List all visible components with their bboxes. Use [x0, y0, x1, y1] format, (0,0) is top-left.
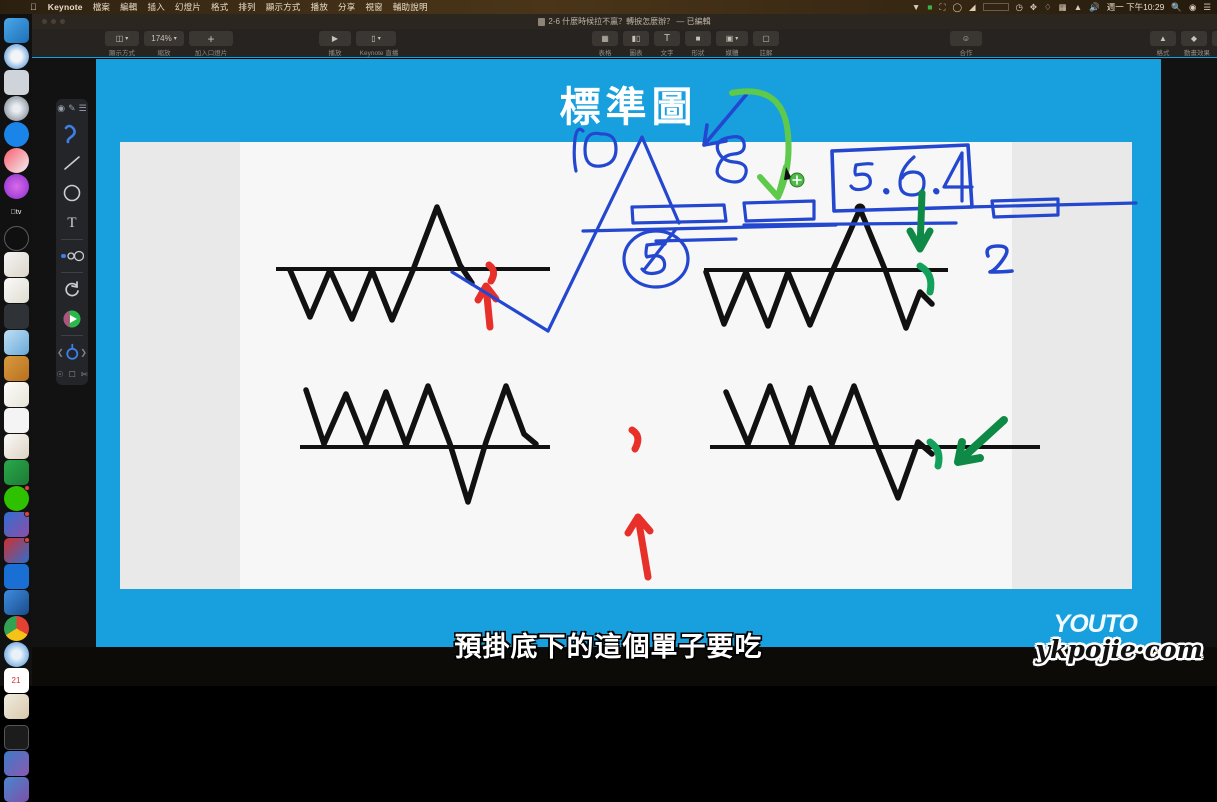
toolbar-group-play: ▶ ▯ ▾	[319, 31, 396, 46]
plus-icon: +	[207, 32, 214, 46]
rotate-arrows-icon	[62, 279, 82, 299]
bar-chart-icon: ▮▯	[632, 34, 641, 43]
table-label: 表格	[592, 47, 618, 57]
format-brush-icon: ▲	[1159, 34, 1167, 43]
site-watermark: ykpojie·com	[1035, 635, 1203, 664]
calendar-icon[interactable]: ▦	[1059, 2, 1067, 13]
chart-panel-top-right	[704, 204, 948, 329]
shape-icon: ■	[696, 34, 701, 43]
next-arrow[interactable]: ❯	[80, 348, 87, 357]
shape-label: 形狀	[685, 47, 711, 57]
menu-item-view[interactable]: 顯示方式	[266, 1, 301, 13]
eject-icon[interactable]: ▲	[1074, 2, 1082, 12]
record-dot-icon[interactable]: ◉	[57, 103, 65, 114]
peak-dot-top-right	[855, 204, 866, 215]
play-tool[interactable]	[57, 304, 87, 334]
timemachine-icon[interactable]: ◷	[1016, 2, 1023, 13]
chart-button[interactable]: ▮▯	[623, 31, 649, 46]
zigzag-series-top-left	[290, 207, 472, 320]
keynote-live-label: Keynote 直播	[353, 47, 405, 57]
graph-icon[interactable]: ◢	[969, 2, 976, 13]
volume-icon[interactable]: 🔊	[1089, 2, 1100, 13]
search-icon[interactable]: 🔍	[1171, 2, 1182, 13]
media-button[interactable]: ▣ ▾	[716, 31, 748, 46]
circle-tool[interactable]	[57, 178, 87, 208]
undo-reset-tool[interactable]	[57, 274, 87, 304]
text-T-icon: T	[67, 215, 76, 232]
close-button[interactable]	[42, 19, 47, 24]
table-icon: ▦	[601, 34, 609, 43]
dock-item-safari[interactable]	[4, 44, 29, 69]
dock-item-terminal[interactable]	[4, 725, 29, 750]
prev-arrow[interactable]: ❮	[57, 348, 64, 357]
menu-item-keynote[interactable]: Keynote	[48, 2, 83, 12]
toolbar-group-insert: ▦ ▮▯ T ■ ▣ ▾ ▢	[592, 31, 779, 46]
stroke-width-tool[interactable]	[57, 241, 87, 271]
notification-badge	[24, 485, 30, 491]
play-label: 播放	[319, 47, 351, 57]
blue-squiggle-icon	[61, 122, 83, 144]
chart-panel-top-left	[276, 207, 550, 327]
palette-separator	[61, 272, 83, 273]
dock-item-docedit[interactable]	[4, 434, 29, 459]
menu-bar:  Keynote 檔案 編輯 插入 幻燈片 格式 排列 顯示方式 播放 分享 …	[0, 0, 1217, 14]
download-icon[interactable]: ▼	[912, 2, 920, 12]
dock-item-safari-alt[interactable]	[4, 226, 29, 251]
red-hook-top-left	[489, 265, 494, 281]
zoom-level-value: 174%	[151, 34, 171, 43]
media-image-icon: ▣	[726, 34, 734, 43]
dock-item-video-app[interactable]	[4, 512, 29, 537]
dock-item-mail[interactable]	[4, 96, 29, 121]
zoom-button[interactable]	[60, 19, 65, 24]
dock-item-appstore[interactable]	[4, 122, 29, 147]
chevron-down-icon: ▾	[125, 35, 128, 42]
palette-separator	[61, 239, 83, 240]
slide-title: 標準圖	[96, 73, 1161, 133]
dots-sizes-icon	[60, 249, 84, 263]
keynote-slide-stage[interactable]: 標準圖	[96, 59, 1161, 647]
menu-item-arrange[interactable]: 排列	[238, 1, 255, 13]
dock-item-wechat[interactable]	[4, 486, 29, 511]
format-label: 格式	[1150, 47, 1176, 57]
red-up-arrow-bottom-left	[628, 517, 650, 577]
clock-check-icon[interactable]: ◯	[952, 2, 962, 13]
menu-lines-icon[interactable]: ☰	[79, 103, 87, 114]
dock-item-launchpad[interactable]	[4, 304, 29, 329]
text-tool[interactable]: T	[57, 208, 87, 238]
chevron-down-icon: ▾	[735, 35, 738, 42]
dock-item-parallels[interactable]	[4, 590, 29, 615]
text-button[interactable]: T	[654, 31, 680, 46]
view-layout-label: 顯示方式	[105, 47, 139, 57]
add-slide-button[interactable]: +	[189, 31, 233, 46]
eraser-icon[interactable]: ☉	[56, 370, 63, 379]
minimize-button[interactable]	[51, 19, 56, 24]
zoom-level-label: 縮放	[144, 47, 184, 57]
zigzag-series-bottom-right	[726, 386, 932, 498]
chevron-down-icon: ▾	[378, 35, 381, 42]
siri-icon[interactable]: ◉	[1189, 2, 1196, 13]
dock-item-notes-tan[interactable]	[4, 356, 29, 381]
collaborate-label: 合作	[950, 47, 982, 57]
live-screen-icon: ▯	[371, 34, 375, 43]
dock-item-finder[interactable]	[4, 18, 29, 43]
laser-ring-icon	[65, 343, 80, 361]
notification-badge	[24, 511, 30, 517]
text-label: 文字	[654, 47, 680, 57]
view-layout-button[interactable]: ◫ ▾	[105, 31, 139, 46]
palette-separator	[61, 335, 83, 336]
laser-pointer-tool[interactable]: ❮ ❯	[57, 337, 87, 367]
menu-bar-clock[interactable]: 週一 下午10:29	[1107, 1, 1165, 13]
document-icon	[538, 18, 545, 26]
message-icon[interactable]: ■	[927, 2, 932, 12]
annotation-palette: ◉ ✎ ☰ T	[56, 99, 88, 385]
control-center-icon[interactable]: ☰	[1203, 2, 1211, 13]
dock-item-podcasts[interactable]	[4, 174, 29, 199]
macos-dock: tv 21	[0, 14, 32, 686]
circle-outline-icon	[61, 182, 83, 204]
chart-canvas	[120, 142, 1132, 589]
media-label: 媒體	[716, 47, 748, 57]
window-controls[interactable]	[42, 19, 65, 24]
animate-label: 動畫效果	[1181, 47, 1213, 57]
scissors-icon[interactable]: ✄	[81, 370, 88, 379]
zigzag-series-bottom-left	[306, 386, 536, 502]
zoom-level-button[interactable]: 174% ▾	[144, 31, 184, 46]
palette-footer: ☉ ☐ ✄	[56, 370, 87, 379]
comment-label: 註解	[753, 47, 779, 57]
play-triangle-icon: ▶	[332, 34, 338, 43]
green-down-arrow-bottom-right	[958, 420, 1004, 462]
battery-meter-icon[interactable]	[983, 3, 1009, 11]
frame-icon[interactable]: ☐	[69, 370, 76, 379]
dock-item-photos[interactable]	[4, 70, 29, 95]
green-hook-top-right	[920, 266, 931, 292]
red-up-arrow-top-left	[478, 286, 496, 327]
menu-item-help[interactable]: 輔助說明	[393, 1, 428, 13]
dock-item-minimized-2[interactable]	[4, 777, 29, 802]
text-T-icon: T	[664, 33, 670, 44]
menu-item-share[interactable]: 分享	[338, 1, 355, 13]
animate-button[interactable]: ◆	[1181, 31, 1207, 46]
menu-item-play[interactable]: 播放	[311, 1, 328, 13]
chevron-down-icon: ▾	[174, 35, 177, 42]
comment-button[interactable]: ▢	[753, 31, 779, 46]
menu-item-format[interactable]: 格式	[211, 1, 228, 13]
window-title: 2-6 什麼時候拉不贏？轉捩怎麼辦？ — 已編輯	[538, 16, 710, 27]
dock-item-books[interactable]	[4, 694, 29, 719]
collaborate-button[interactable]: ☺	[950, 31, 982, 46]
play-button[interactable]: ▶	[319, 31, 351, 46]
shield-icon[interactable]: ♢	[1044, 2, 1052, 13]
window-title-text: 2-6 什麼時候拉不贏？轉捩怎麼辦？ — 已編輯	[548, 16, 710, 27]
document-button[interactable]: ▣	[1212, 31, 1217, 46]
chart-label: 圖表	[623, 47, 649, 57]
pointer-pen-icon[interactable]: ✎	[68, 103, 76, 114]
green-play-icon	[62, 309, 82, 329]
menu-item-insert[interactable]: 插入	[148, 1, 165, 13]
shape-button[interactable]: ■	[685, 31, 711, 46]
palette-header: ◉ ✎ ☰	[57, 103, 86, 114]
toolbar-group-right: ▲ ◆ ▣	[1150, 31, 1217, 46]
pen-tool[interactable]	[57, 118, 87, 148]
format-button[interactable]: ▲	[1150, 31, 1176, 46]
toolbar-group-collab: ☺	[950, 31, 982, 46]
chart-panel-bottom-right	[710, 386, 1040, 498]
chart-panel-bottom-left	[300, 386, 650, 577]
dropbox-icon[interactable]: ✥	[1030, 2, 1037, 13]
notification-badge	[24, 537, 30, 543]
dock-item-screenshot[interactable]	[4, 538, 29, 563]
dock-item-numbers[interactable]	[4, 460, 29, 485]
slide-whiteboard	[120, 142, 1132, 589]
keynote-toolbar: ◫ ▾ 174% ▾ + 顯示方式 縮放 加入口燈片 ▶ ▯ ▾ 播放 Keyn…	[32, 29, 1217, 58]
add-slide-label: 加入口燈片	[189, 47, 233, 57]
comment-icon: ▢	[762, 34, 770, 43]
apple-logo-icon[interactable]: 	[30, 2, 37, 12]
red-hook-bottom-left	[632, 430, 638, 449]
toolbar-group-left: ◫ ▾ 174% ▾ +	[105, 31, 233, 46]
dock-item-appletv[interactable]: tv	[4, 200, 29, 225]
menu-item-edit[interactable]: 編輯	[120, 1, 137, 13]
dock-item-reminders[interactable]	[4, 408, 29, 433]
dock-item-calendar[interactable]: 21	[4, 668, 29, 693]
dock-item-windows[interactable]	[4, 564, 29, 589]
menu-bar-status-area: ▼ ■ ⛶ ◯ ◢ ◷ ✥ ♢ ▦ ▲ 🔊 週一 下午10:29 🔍 ◉ ☰	[912, 1, 1211, 13]
dock-item-keynote[interactable]	[4, 252, 29, 277]
dock-item-music[interactable]	[4, 148, 29, 173]
window-title-bar: 2-6 什麼時候拉不贏？轉捩怎麼辦？ — 已編輯	[32, 14, 1217, 29]
scissors-icon[interactable]: ⛶	[939, 2, 945, 13]
table-button[interactable]: ▦	[592, 31, 618, 46]
line-tool[interactable]	[57, 148, 87, 178]
dock-item-textedit[interactable]	[4, 382, 29, 407]
collaborate-person-icon: ☺	[962, 34, 970, 43]
animate-icon: ◆	[1191, 34, 1197, 43]
view-layout-icon: ◫	[116, 34, 124, 43]
menu-item-window[interactable]: 視窗	[365, 1, 382, 13]
dock-item-pages[interactable]	[4, 278, 29, 303]
menu-item-file[interactable]: 檔案	[93, 1, 110, 13]
menu-item-slide[interactable]: 幻燈片	[175, 1, 201, 13]
dock-item-minimized-1[interactable]	[4, 751, 29, 776]
desktop-right-fill	[1161, 58, 1217, 647]
diagonal-line-icon	[61, 152, 83, 174]
keynote-live-button[interactable]: ▯ ▾	[356, 31, 396, 46]
dock-item-preview[interactable]	[4, 330, 29, 355]
